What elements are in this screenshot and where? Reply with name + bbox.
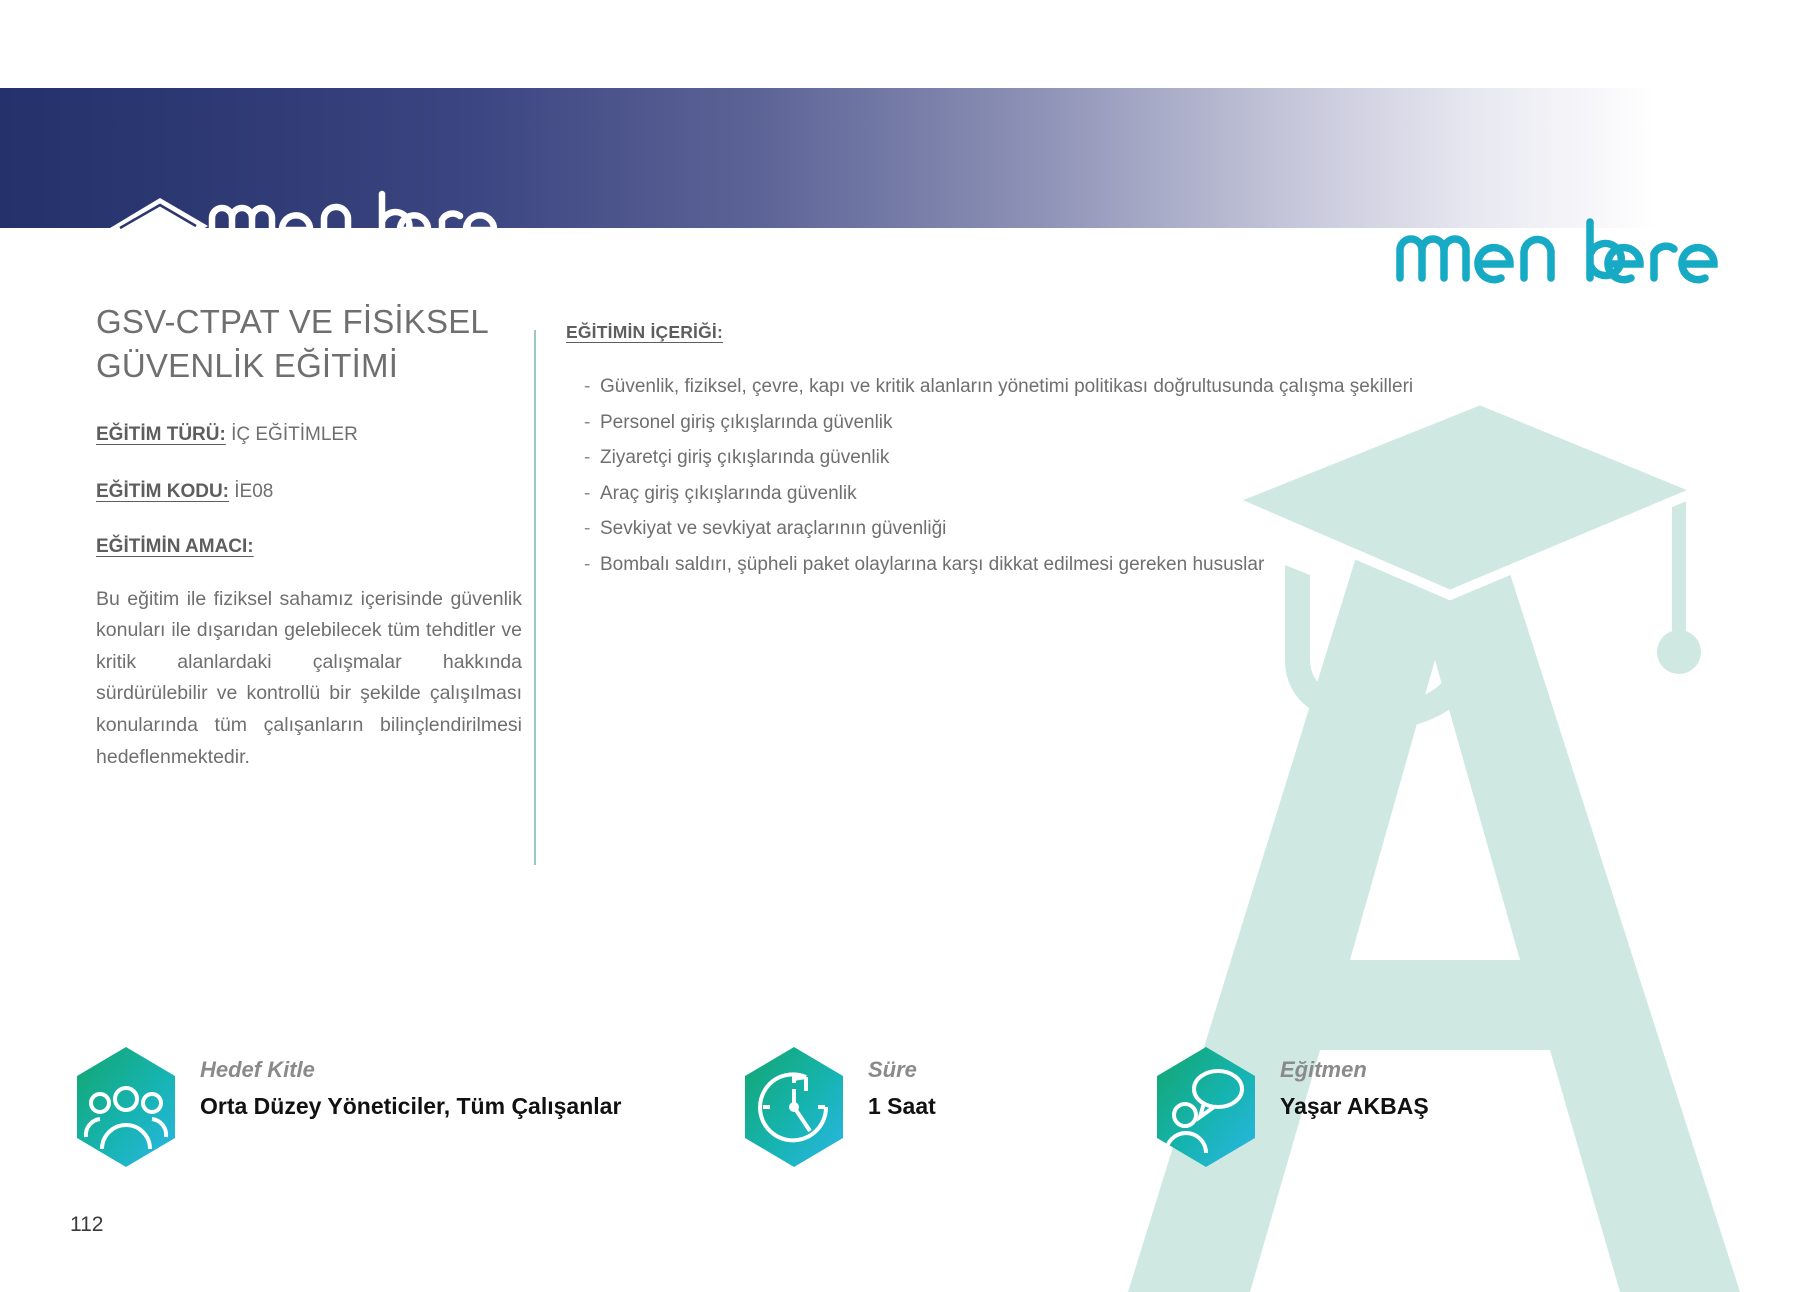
akademi-wordmark: AKADEMİ bbox=[180, 228, 473, 283]
list-item-text: Ziyaretçi giriş çıkışlarında güvenlik bbox=[600, 444, 1446, 472]
menderes-brand-logo bbox=[1392, 216, 1722, 288]
training-type-value: İÇ EĞİTİMLER bbox=[231, 424, 358, 445]
right-column: EĞİTİMİN İÇERİĞİ: - Güvenlik, fiziksel, … bbox=[566, 322, 1446, 586]
badge-target-audience: Hedef Kitle Orta Düzey Yöneticiler, Tüm … bbox=[72, 1045, 621, 1169]
list-item-text: Araç giriş çıkışlarında güvenlik bbox=[600, 480, 1446, 508]
list-item: - Sevkiyat ve sevkiyat araçlarının güven… bbox=[566, 515, 1446, 543]
badge-text: Eğitmen Yaşar AKBAŞ bbox=[1280, 1045, 1429, 1122]
slide-page: AKADEMİ GSV-CTPAT VE FİSİKSEL GÜVENLİK E… bbox=[0, 0, 1800, 1292]
badge-label: Eğitmen bbox=[1280, 1057, 1429, 1083]
purpose-text: Bu eğitim ile fiziksel sahamız içerisind… bbox=[96, 584, 522, 773]
list-item: - Araç giriş çıkışlarında güvenlik bbox=[566, 480, 1446, 508]
training-code-label: EĞİTİM KODU: bbox=[96, 481, 229, 502]
list-item: - Ziyaretçi giriş çıkışlarında güvenlik bbox=[566, 444, 1446, 472]
training-type-label: EĞİTİM TÜRÜ: bbox=[96, 424, 226, 445]
list-item-text: Güvenlik, fiziksel, çevre, kapı ve kriti… bbox=[600, 373, 1446, 401]
badge-row: Hedef Kitle Orta Düzey Yöneticiler, Tüm … bbox=[0, 1045, 1800, 1205]
list-item-text: Personel giriş çıkışlarında güvenlik bbox=[600, 409, 1446, 437]
page-title: GSV-CTPAT VE FİSİKSEL GÜVENLİK EĞİTİMİ bbox=[96, 300, 526, 388]
header-bar: AKADEMİ bbox=[0, 88, 1800, 228]
badge-value: Yaşar AKBAŞ bbox=[1280, 1091, 1429, 1121]
content-bullet-list: - Güvenlik, fiziksel, çevre, kapı ve kri… bbox=[566, 373, 1446, 578]
list-item: - Güvenlik, fiziksel, çevre, kapı ve kri… bbox=[566, 373, 1446, 401]
content-label: EĞİTİMİN İÇERİĞİ: bbox=[566, 322, 723, 343]
badge-text: Hedef Kitle Orta Düzey Yöneticiler, Tüm … bbox=[200, 1045, 621, 1122]
badge-duration: Süre 1 Saat bbox=[740, 1045, 936, 1169]
bullet-marker: - bbox=[566, 551, 600, 579]
badge-value: 1 Saat bbox=[868, 1091, 936, 1121]
badge-value: Orta Düzey Yöneticiler, Tüm Çalışanlar bbox=[200, 1091, 621, 1121]
akademi-logo: AKADEMİ bbox=[96, 184, 516, 308]
badge-text: Süre 1 Saat bbox=[868, 1045, 936, 1122]
training-type-row: EĞİTİM TÜRÜ: İÇ EĞİTİMLER bbox=[96, 422, 526, 449]
training-code-row: EĞİTİM KODU: İE08 bbox=[96, 479, 526, 506]
badge-label: Hedef Kitle bbox=[200, 1057, 621, 1083]
bullet-marker: - bbox=[566, 480, 600, 508]
people-group-icon bbox=[72, 1045, 180, 1169]
trainer-speech-icon bbox=[1152, 1045, 1260, 1169]
purpose-label: EĞİTİMİN AMACI: bbox=[96, 536, 254, 558]
training-code-value: İE08 bbox=[234, 481, 273, 502]
bullet-marker: - bbox=[566, 515, 600, 543]
list-item-text: Bombalı saldırı, şüpheli paket olayların… bbox=[600, 551, 1446, 579]
badge-trainer: Eğitmen Yaşar AKBAŞ bbox=[1152, 1045, 1429, 1169]
list-item-text: Sevkiyat ve sevkiyat araçlarının güvenli… bbox=[600, 515, 1446, 543]
page-number: 112 bbox=[70, 1213, 103, 1237]
badge-label: Süre bbox=[868, 1057, 936, 1083]
bullet-marker: - bbox=[566, 409, 600, 437]
column-divider bbox=[534, 330, 536, 865]
list-item: - Personel giriş çıkışlarında güvenlik bbox=[566, 409, 1446, 437]
bullet-marker: - bbox=[566, 373, 600, 401]
bullet-marker: - bbox=[566, 444, 600, 472]
list-item: - Bombalı saldırı, şüpheli paket olaylar… bbox=[566, 551, 1446, 579]
clock-icon bbox=[740, 1045, 848, 1169]
left-column: GSV-CTPAT VE FİSİKSEL GÜVENLİK EĞİTİMİ E… bbox=[96, 300, 526, 773]
